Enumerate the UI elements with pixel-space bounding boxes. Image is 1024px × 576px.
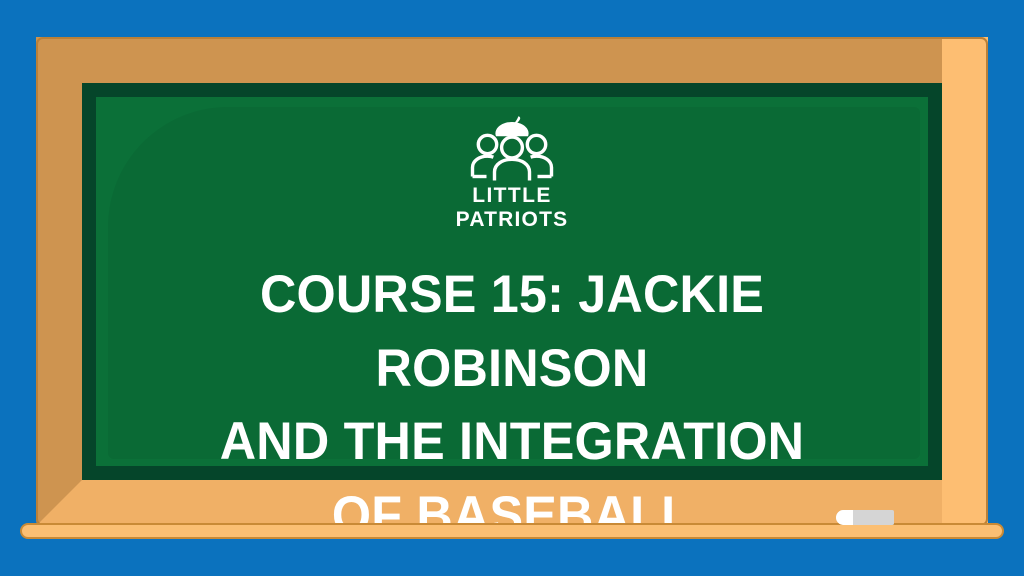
frame-bevel-top <box>36 37 988 83</box>
frame-bevel-right <box>942 37 988 526</box>
three-people-with-apple-icon <box>464 116 560 182</box>
slide-content: LITTLE PATRIOTS COURSE 15: JACKIE ROBINS… <box>96 97 928 466</box>
slide-canvas: LITTLE PATRIOTS COURSE 15: JACKIE ROBINS… <box>0 0 1024 576</box>
logo-wordmark: LITTLE PATRIOTS <box>456 185 569 230</box>
logo-wordmark-line-1: LITTLE <box>472 185 552 206</box>
chalk-piece[interactable] <box>836 510 894 525</box>
course-title: COURSE 15: JACKIE ROBINSON AND THE INTEG… <box>123 258 902 553</box>
logo-wordmark-line-2: PATRIOTS <box>456 209 569 230</box>
little-patriots-logo: LITTLE PATRIOTS <box>456 116 569 230</box>
chalk-tip <box>836 510 853 525</box>
chalk-ledge <box>20 523 1004 539</box>
